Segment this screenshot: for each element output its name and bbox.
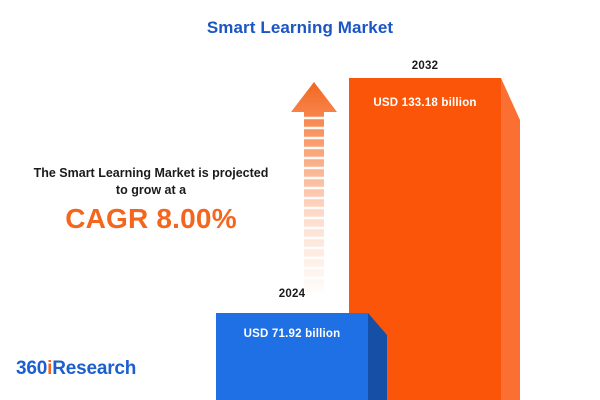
- logo-research: Research: [52, 358, 136, 379]
- chart-canvas: Smart Learning Market: [0, 0, 600, 400]
- chart-title: Smart Learning Market: [0, 18, 600, 38]
- logo-360: 360: [16, 358, 47, 379]
- growth-statement: The Smart Learning Market is projected t…: [26, 165, 276, 199]
- bar-2032-side: [501, 78, 520, 400]
- bar-2032-year-label: 2032: [349, 60, 501, 72]
- growth-arrow-icon: [290, 82, 338, 292]
- logo: 360iResearch: [16, 358, 136, 380]
- bar-2024-value-label: USD 71.92 billion: [216, 328, 368, 340]
- bar-2032-value-label: USD 133.18 billion: [349, 97, 501, 109]
- cagr-value: CAGR 8.00%: [26, 203, 276, 235]
- bar-2024-year-label: 2024: [216, 288, 368, 300]
- bar-2024: [216, 313, 368, 400]
